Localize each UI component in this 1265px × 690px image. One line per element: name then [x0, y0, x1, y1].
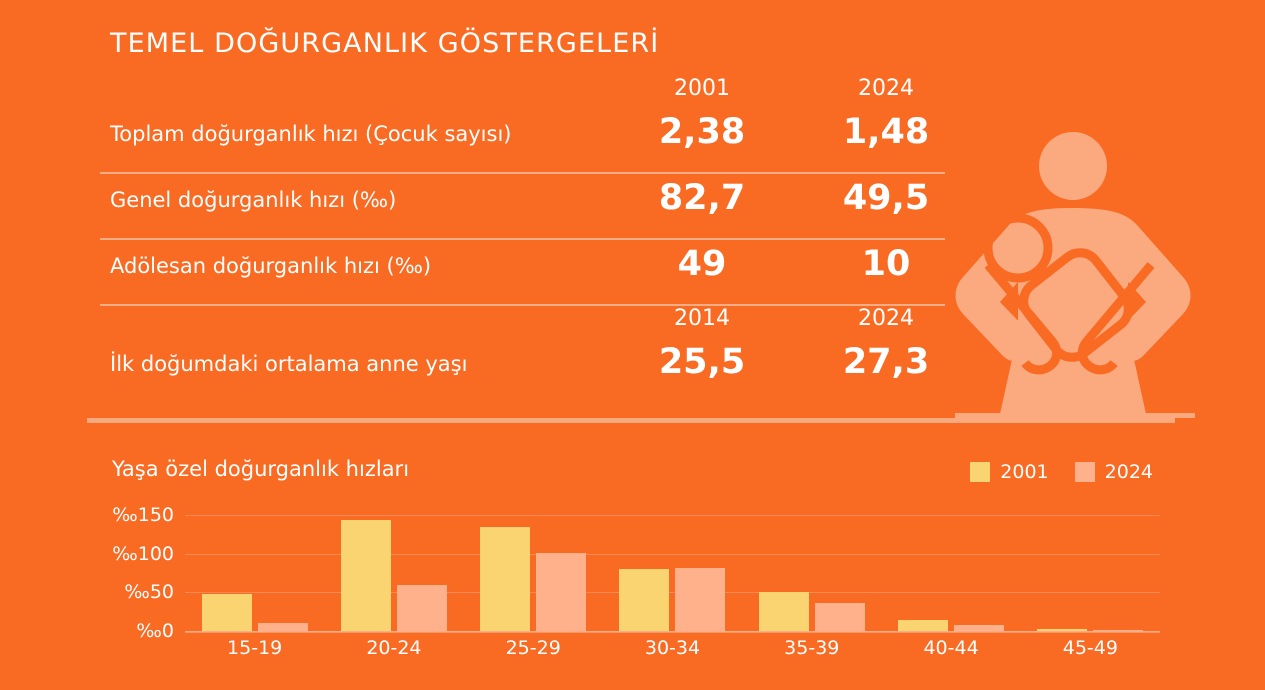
x-tick-label: 45-49	[1021, 637, 1160, 659]
row-label: Toplam doğurganlık hızı (Çocuk sayısı)	[110, 122, 511, 146]
x-tick-label: 15-19	[185, 637, 324, 659]
x-tick-label: 20-24	[324, 637, 463, 659]
year-header-2024-b: 2024	[826, 306, 946, 331]
bar-2024-25-29	[536, 553, 586, 631]
legend-item-2024: 2024	[1075, 461, 1153, 483]
row-label: İlk doğumdaki ortalama anne yaşı	[110, 352, 467, 376]
fertility-indicators-infographic: TEMEL DOĞURGANLIK GÖSTERGELERİ 2001 2024…	[0, 0, 1265, 690]
y-tick-label: ‰50	[124, 581, 174, 603]
bar-2024-30-34	[675, 568, 725, 631]
row-value-2024: 27,3	[826, 342, 946, 382]
legend-label-2024: 2024	[1105, 461, 1153, 483]
bar-2024-35-39	[815, 603, 865, 631]
legend-label-2001: 2001	[1000, 461, 1048, 483]
bar-2001-45-49	[1037, 629, 1087, 631]
bar-2001-20-24	[341, 520, 391, 631]
bar-group	[742, 515, 881, 631]
bar-2001-15-19	[202, 594, 252, 631]
x-axis-labels: 15-1920-2425-2930-3435-3940-4445-49	[185, 637, 1160, 667]
row-value-2014: 25,5	[642, 342, 762, 382]
page-title: TEMEL DOĞURGANLIK GÖSTERGELERİ	[110, 28, 659, 59]
mother-holding-baby-icon	[955, 110, 1195, 422]
section-divider	[87, 418, 1175, 423]
bar-2001-25-29	[480, 527, 530, 631]
table-row: İlk doğumdaki ortalama anne yaşı 25,5 27…	[100, 338, 945, 404]
y-axis-labels: ‰0‰50‰100‰150	[108, 505, 180, 640]
table-row: Genel doğurganlık hızı (‰) 82,7 49,5	[100, 174, 945, 240]
bar-2001-30-34	[619, 569, 669, 631]
bar-2024-40-44	[954, 625, 1004, 631]
bar-group	[185, 515, 324, 631]
year-header-2024: 2024	[826, 76, 946, 101]
bar-group	[324, 515, 463, 631]
row-value-2024: 49,5	[826, 178, 946, 218]
row-label: Genel doğurganlık hızı (‰)	[110, 188, 396, 212]
bar-group	[464, 515, 603, 631]
year-header-2014: 2014	[642, 306, 762, 331]
bar-2024-20-24	[397, 585, 447, 631]
legend-swatch-2001	[970, 462, 990, 482]
x-tick-label: 30-34	[603, 637, 742, 659]
bar-group	[603, 515, 742, 631]
y-tick-label: ‰100	[112, 543, 174, 565]
indicators-table: 2001 2024 Toplam doğurganlık hızı (Çocuk…	[100, 76, 945, 404]
bar-2001-35-39	[759, 592, 809, 631]
chart-legend: 2001 2024	[970, 461, 1153, 483]
y-tick-label: ‰0	[136, 620, 174, 642]
x-tick-label: 40-44	[881, 637, 1020, 659]
row-divider	[100, 172, 945, 174]
legend-swatch-2024	[1075, 462, 1095, 482]
bar-2024-45-49	[1093, 630, 1143, 631]
chart-title: Yaşa özel doğurganlık hızları	[112, 457, 409, 481]
year-header-row-2: 2014 2024	[100, 306, 945, 338]
row-value-2001: 2,38	[642, 112, 762, 152]
table-row: Adölesan doğurganlık hızı (‰) 49 10	[100, 240, 945, 306]
row-value-2024: 10	[826, 244, 946, 284]
y-tick-label: ‰150	[112, 504, 174, 526]
bar-group	[881, 515, 1020, 631]
bar-chart-plot-area	[185, 515, 1160, 631]
bar-group	[1021, 515, 1160, 631]
legend-item-2001: 2001	[970, 461, 1048, 483]
table-row: Toplam doğurganlık hızı (Çocuk sayısı) 2…	[100, 108, 945, 174]
x-tick-label: 25-29	[464, 637, 603, 659]
row-divider	[100, 238, 945, 240]
bar-2001-40-44	[898, 620, 948, 631]
x-tick-label: 35-39	[742, 637, 881, 659]
row-label: Adölesan doğurganlık hızı (‰)	[110, 254, 431, 278]
row-value-2024: 1,48	[826, 112, 946, 152]
year-header-row-1: 2001 2024	[100, 76, 945, 108]
x-axis-line	[185, 631, 1160, 633]
year-header-2001: 2001	[642, 76, 762, 101]
bar-2024-15-19	[258, 623, 308, 631]
row-value-2001: 82,7	[642, 178, 762, 218]
row-value-2001: 49	[642, 244, 762, 284]
row-divider	[100, 304, 945, 306]
